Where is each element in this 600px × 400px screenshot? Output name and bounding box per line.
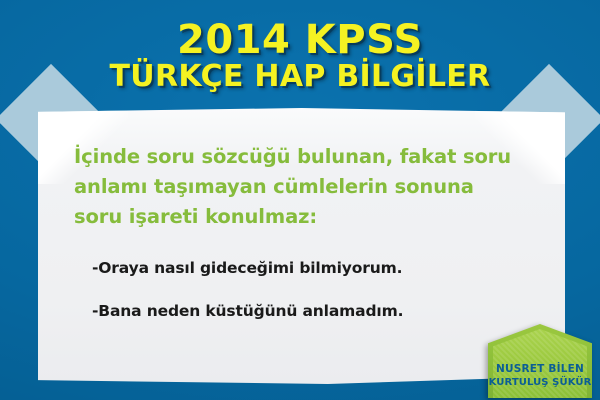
badge-author-primary: NUSRET BİLEN <box>488 363 592 376</box>
list-item: -Oraya nasıl gideceğimi bilmiyorum. <box>92 258 535 278</box>
list-item: -Bana neden küstüğünü anlamadım. <box>92 301 535 321</box>
paper-sheet: İçinde soru sözcüğü bulunan, fakat soru … <box>38 108 565 384</box>
rule-statement-line-1: İçinde soru sözcüğü bulunan, fakat soru <box>74 142 535 172</box>
signature-badge: NUSRET BİLEN KURTULUŞ ŞÜKÜR <box>488 324 592 398</box>
poster-canvas: 2014 KPSS TÜRKÇE HAP BİLGİLER İçinde sor… <box>0 0 600 400</box>
paper-content: İçinde soru sözcüğü bulunan, fakat soru … <box>38 108 565 384</box>
rule-statement-line-2: anlamı taşımayan cümlelerin sonuna <box>74 172 535 202</box>
rule-statement-line-3: soru işareti konulmaz: <box>74 202 535 232</box>
rule-statement: İçinde soru sözcüğü bulunan, fakat soru … <box>74 142 535 232</box>
badge-text-group: NUSRET BİLEN KURTULUŞ ŞÜKÜR <box>488 363 592 389</box>
example-list: -Oraya nasıl gideceğimi bilmiyorum. -Ban… <box>92 258 535 321</box>
badge-author-secondary: KURTULUŞ ŞÜKÜR <box>488 376 592 389</box>
